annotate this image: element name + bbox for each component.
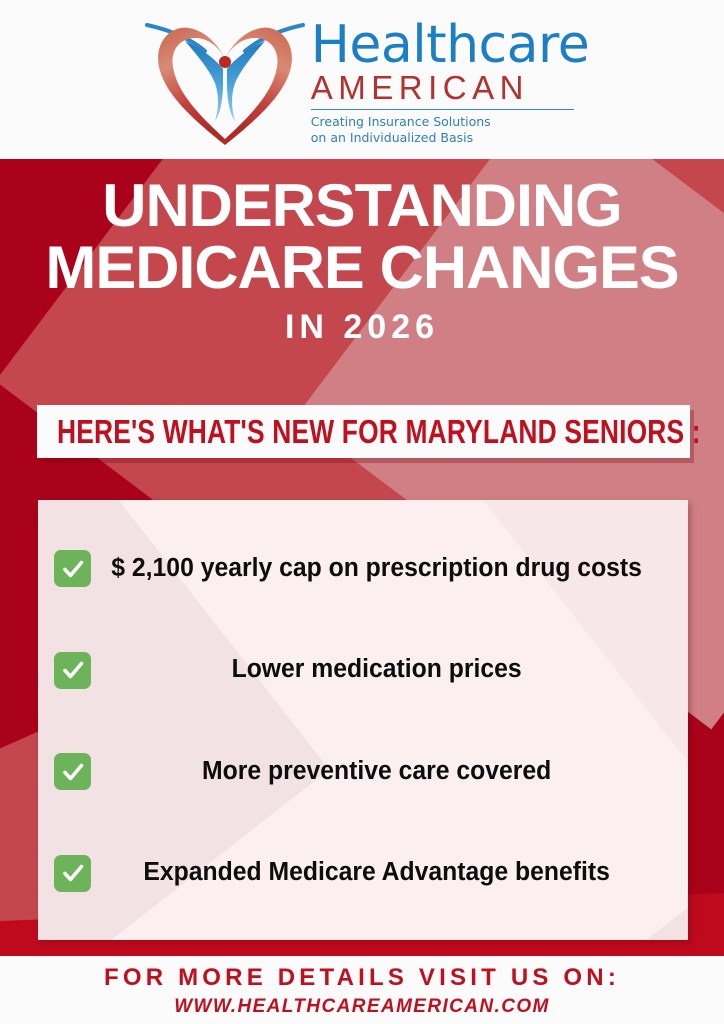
list-item: Lower medication prices [38,652,688,689]
list-item: More preventive care covered [38,753,688,790]
poster-header: Healthcare AMERICAN Creating Insurance S… [0,0,724,160]
check-icon [54,652,91,689]
brand-tagline-line-1: Creating Insurance Solutions [311,114,589,131]
medicare-infographic-poster: Healthcare AMERICAN Creating Insurance S… [0,0,724,1024]
page-title: UNDERSTANDING MEDICARE CHANGES IN 2026 [0,175,724,353]
heart-with-person-icon [145,9,305,151]
benefit-text: More preventive care covered [100,756,662,788]
check-icon [54,855,91,892]
subheading-banner: HERE'S WHAT'S NEW FOR MARYLAND SENIORS : [37,405,690,458]
benefits-card: $ 2,100 yearly cap on prescription drug … [38,500,688,940]
check-icon [54,550,91,587]
benefit-text: Expanded Medicare Advantage benefits [100,857,662,889]
poster-footer: FOR MORE DETAILS VISIT US ON: WWW.HEALTH… [0,956,724,1024]
benefit-text: $ 2,100 yearly cap on prescription drug … [100,553,662,585]
brand-tagline: Creating Insurance Solutions on an Indiv… [311,114,589,147]
benefits-list: $ 2,100 yearly cap on prescription drug … [38,500,688,940]
title-line-2: MEDICARE CHANGES [0,237,724,299]
title-line-1: UNDERSTANDING [0,175,724,237]
brand-logo: Healthcare AMERICAN Creating Insurance S… [145,9,589,151]
check-icon [54,753,91,790]
footer-call-to-action: FOR MORE DETAILS VISIT US ON: [0,963,724,993]
list-item: $ 2,100 yearly cap on prescription drug … [38,550,688,587]
footer-website-url[interactable]: WWW.HEALTHCAREAMERICAN.COM [0,995,724,1020]
title-line-3: IN 2026 [0,301,724,354]
benefit-text: Lower medication prices [100,654,662,686]
subheading-text: HERE'S WHAT'S NEW FOR MARYLAND SENIORS : [57,413,701,451]
list-item: Expanded Medicare Advantage benefits [38,855,688,892]
brand-wordmark: Healthcare AMERICAN Creating Insurance S… [311,21,589,147]
brand-tagline-line-2: on an Individualized Basis [311,130,589,147]
brand-name-primary: Healthcare [311,21,589,71]
brand-name-secondary: AMERICAN [311,71,574,110]
